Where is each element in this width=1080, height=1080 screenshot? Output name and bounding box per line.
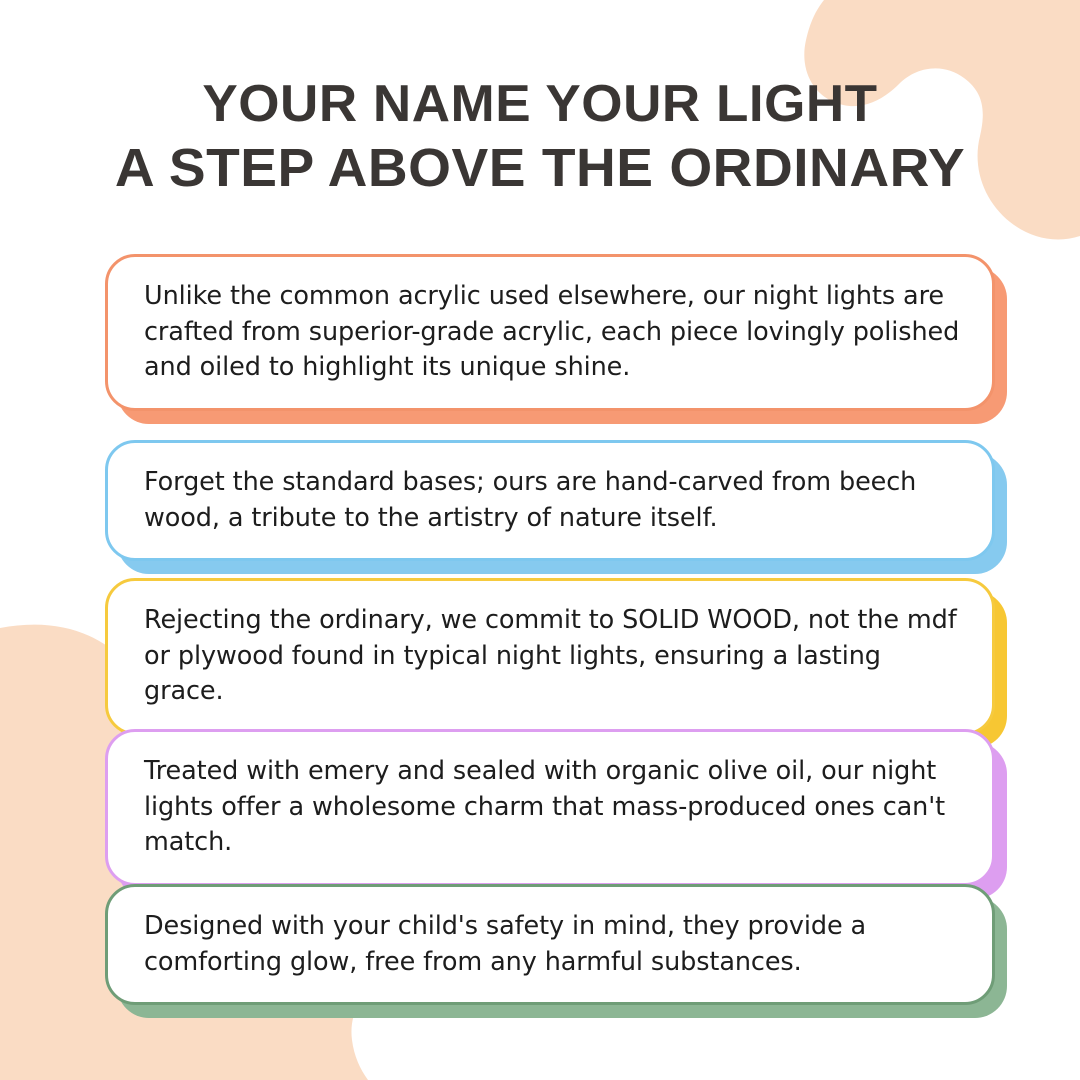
page-title: YOUR NAME YOUR LIGHT A STEP ABOVE THE OR… xyxy=(0,72,1080,200)
page-title-line-1: YOUR NAME YOUR LIGHT xyxy=(0,72,1080,136)
poster-canvas: YOUR NAME YOUR LIGHT A STEP ABOVE THE OR… xyxy=(0,0,1080,1080)
feature-card: Rejecting the ordinary, we commit to SOL… xyxy=(105,578,995,735)
feature-card: Designed with your child's safety in min… xyxy=(105,884,995,1005)
feature-card-body: Designed with your child's safety in min… xyxy=(105,884,995,1005)
feature-card: Forget the standard bases; ours are hand… xyxy=(105,440,995,561)
feature-card-text: Rejecting the ordinary, we commit to SOL… xyxy=(144,603,962,710)
feature-card-body: Rejecting the ordinary, we commit to SOL… xyxy=(105,578,995,735)
feature-card-text: Treated with emery and sealed with organ… xyxy=(144,754,962,861)
feature-card: Treated with emery and sealed with organ… xyxy=(105,729,995,886)
feature-card: Unlike the common acrylic used elsewhere… xyxy=(105,254,995,411)
feature-card-text: Unlike the common acrylic used elsewhere… xyxy=(144,279,962,386)
feature-card-body: Unlike the common acrylic used elsewhere… xyxy=(105,254,995,411)
feature-card-text: Forget the standard bases; ours are hand… xyxy=(144,465,962,536)
feature-card-body: Forget the standard bases; ours are hand… xyxy=(105,440,995,561)
feature-card-text: Designed with your child's safety in min… xyxy=(144,909,962,980)
feature-card-body: Treated with emery and sealed with organ… xyxy=(105,729,995,886)
page-title-line-2: A STEP ABOVE THE ORDINARY xyxy=(0,136,1080,200)
